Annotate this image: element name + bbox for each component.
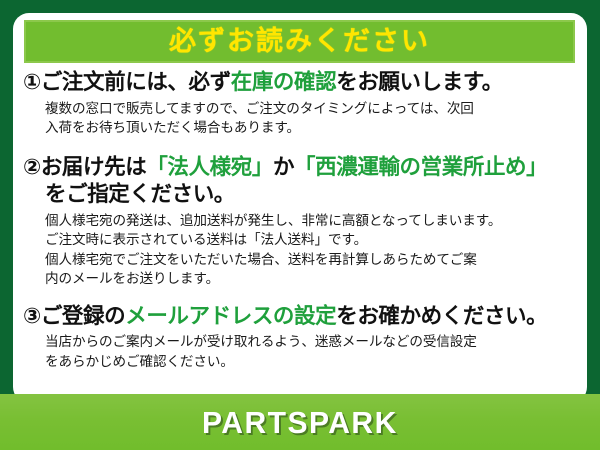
item-1-heading-accent: 在庫の確認 (231, 70, 337, 94)
item-2-heading-accent-2: 「西濃運輸の営業所止め」 (294, 155, 547, 179)
notice-item-2: ②お届け先は「法人様宛」か「西濃運輸の営業所止め」 をご指定ください。 個人様宅… (23, 154, 579, 289)
item-1-body-line-1: 複数の窓口で販売してますので、ご注文のタイミングによっては、次回 (45, 99, 579, 119)
item-1-heading-part-1: ご注文前には、必ず (41, 70, 231, 94)
item-1-number: ① (23, 70, 41, 94)
notice-item-3-heading: ③ご登録のメールアドレスの設定をお確かめください。 (23, 303, 579, 331)
notice-item-2-body: 個人様宅宛の発送は、追加送料が発生し、非常に高額となってしまいます。 ご注文時に… (23, 211, 579, 289)
item-3-heading-part-3: をお確かめください。 (336, 304, 547, 328)
notice-item-1-body: 複数の窓口で販売してますので、ご注文のタイミングによっては、次回 入荷をお待ち頂… (23, 99, 579, 138)
item-2-number: ② (23, 155, 41, 179)
item-2-body-line-3: 個人様宅宛でご注文をいただいた場合、送料を再計算しあらためてご案 (45, 250, 579, 270)
notice-item-1: ①ご注文前には、必ず在庫の確認をお願いします。 複数の窓口で販売してますので、ご… (23, 69, 579, 138)
item-2-heading-part-1: お届け先は (41, 155, 147, 179)
footer-brand-band: PARTSPARK (0, 394, 600, 450)
item-3-heading-accent: メールアドレスの設定 (125, 304, 336, 328)
notice-card: 必ずお読みください ①ご注文前には、必ず在庫の確認をお願いします。 複数の窓口で… (13, 13, 587, 403)
item-3-number: ③ (23, 304, 41, 328)
notice-item-3-body: 当店からのご案内メールが受け取れるよう、迷惑メールなどの受信設定 をあらかじめご… (23, 332, 579, 371)
notice-item-1-heading: ①ご注文前には、必ず在庫の確認をお願いします。 (23, 69, 579, 97)
item-2-body-line-1: 個人様宅宛の発送は、追加送料が発生し、非常に高額となってしまいます。 (45, 211, 579, 231)
item-2-body-line-4: 内のメールをお送りします。 (45, 269, 579, 289)
page-title: 必ずお読みください (169, 28, 430, 55)
notice-body: ①ご注文前には、必ず在庫の確認をお願いします。 複数の窓口で販売してますので、ご… (13, 69, 587, 376)
notice-item-2-heading-line2: をご指定ください。 (23, 181, 579, 209)
item-1-heading-part-3: をお願いします。 (336, 70, 503, 94)
notice-item-2-heading: ②お届け先は「法人様宛」か「西濃運輸の営業所止め」 (23, 154, 579, 182)
notice-page: 必ずお読みください ①ご注文前には、必ず在庫の確認をお願いします。 複数の窓口で… (0, 0, 600, 450)
brand-logo-text: PARTSPARK (202, 407, 398, 438)
item-3-heading-part-1: ご登録の (41, 304, 125, 328)
notice-item-3: ③ご登録のメールアドレスの設定をお確かめください。 当店からのご案内メールが受け… (23, 303, 579, 372)
item-3-body-line-1: 当店からのご案内メールが受け取れるよう、迷惑メールなどの受信設定 (45, 332, 579, 352)
item-2-body-line-2: ご注文時に表示されている送料は「法人送料」です。 (45, 230, 579, 250)
item-2-heading-part-3: か (273, 155, 294, 179)
title-banner: 必ずお読みください (24, 20, 575, 63)
item-1-body-line-2: 入荷をお待ち頂いただく場合もあります。 (45, 118, 579, 138)
item-2-heading-accent-1: 「法人様宛」 (146, 155, 273, 179)
item-3-body-line-2: をあらかじめご確認ください。 (45, 352, 579, 372)
